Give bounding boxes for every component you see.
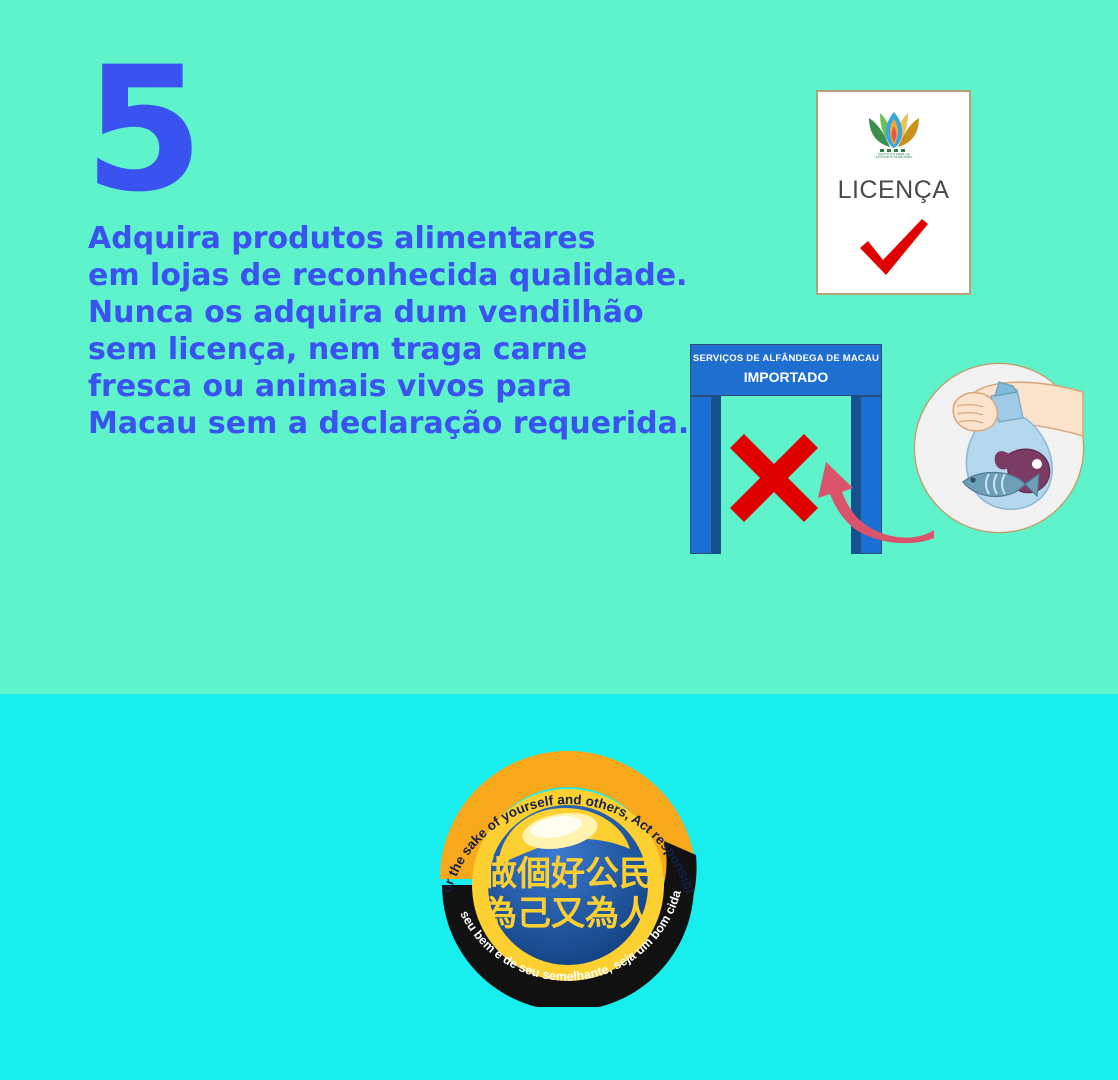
body-copy-line: em lojas de reconhecida qualidade. bbox=[88, 257, 708, 294]
red-x-icon bbox=[730, 434, 818, 522]
badge-chinese-line-2: 為己又為人 bbox=[483, 894, 653, 934]
body-copy-line: fresca ou animais vivos para bbox=[88, 368, 708, 405]
iam-logo-icon: INSTITUTO PARA OS ASSUNTOS MUNICIPAIS bbox=[863, 106, 925, 158]
licence-card: INSTITUTO PARA OS ASSUNTOS MUNICIPAIS LI… bbox=[816, 90, 971, 295]
customs-sign-line-2: IMPORTADO bbox=[691, 369, 881, 385]
badge-chinese-line-1: 做個好公民 bbox=[482, 854, 653, 894]
body-copy-line: Adquira produtos alimentares bbox=[88, 220, 708, 257]
customs-gate-illustration: SERVIÇOS DE ALFÂNDEGA DE MACAU IMPORTADO bbox=[686, 344, 886, 556]
red-checkmark-icon bbox=[854, 216, 934, 278]
gate-pillar-left bbox=[690, 396, 712, 554]
customs-sign: SERVIÇOS DE ALFÂNDEGA DE MACAU IMPORTADO bbox=[690, 344, 882, 396]
licence-title: LICENÇA bbox=[818, 176, 969, 205]
gate-pillar-side-left bbox=[712, 396, 721, 554]
body-copy-line: Nunca os adquira dum vendilhão bbox=[88, 294, 708, 331]
body-copy-line: Macau sem a declaração requerida. bbox=[88, 405, 708, 442]
body-copy: Adquira produtos alimentares em lojas de… bbox=[88, 220, 708, 442]
iam-logo-subtitle-2: ASSUNTOS MUNICIPAIS bbox=[875, 156, 912, 159]
poster-canvas: 5 Adquira produtos alimentares em lojas … bbox=[0, 0, 1118, 1080]
live-fish-bag-illustration bbox=[913, 362, 1085, 534]
customs-sign-line-1: SERVIÇOS DE ALFÂNDEGA DE MACAU bbox=[691, 353, 881, 364]
body-copy-line: sem licença, nem traga carne bbox=[88, 331, 708, 368]
step-number: 5 bbox=[84, 44, 201, 216]
good-citizen-badge: 做個好公民 為己又為人 For the sake of yourself and… bbox=[428, 745, 708, 1007]
